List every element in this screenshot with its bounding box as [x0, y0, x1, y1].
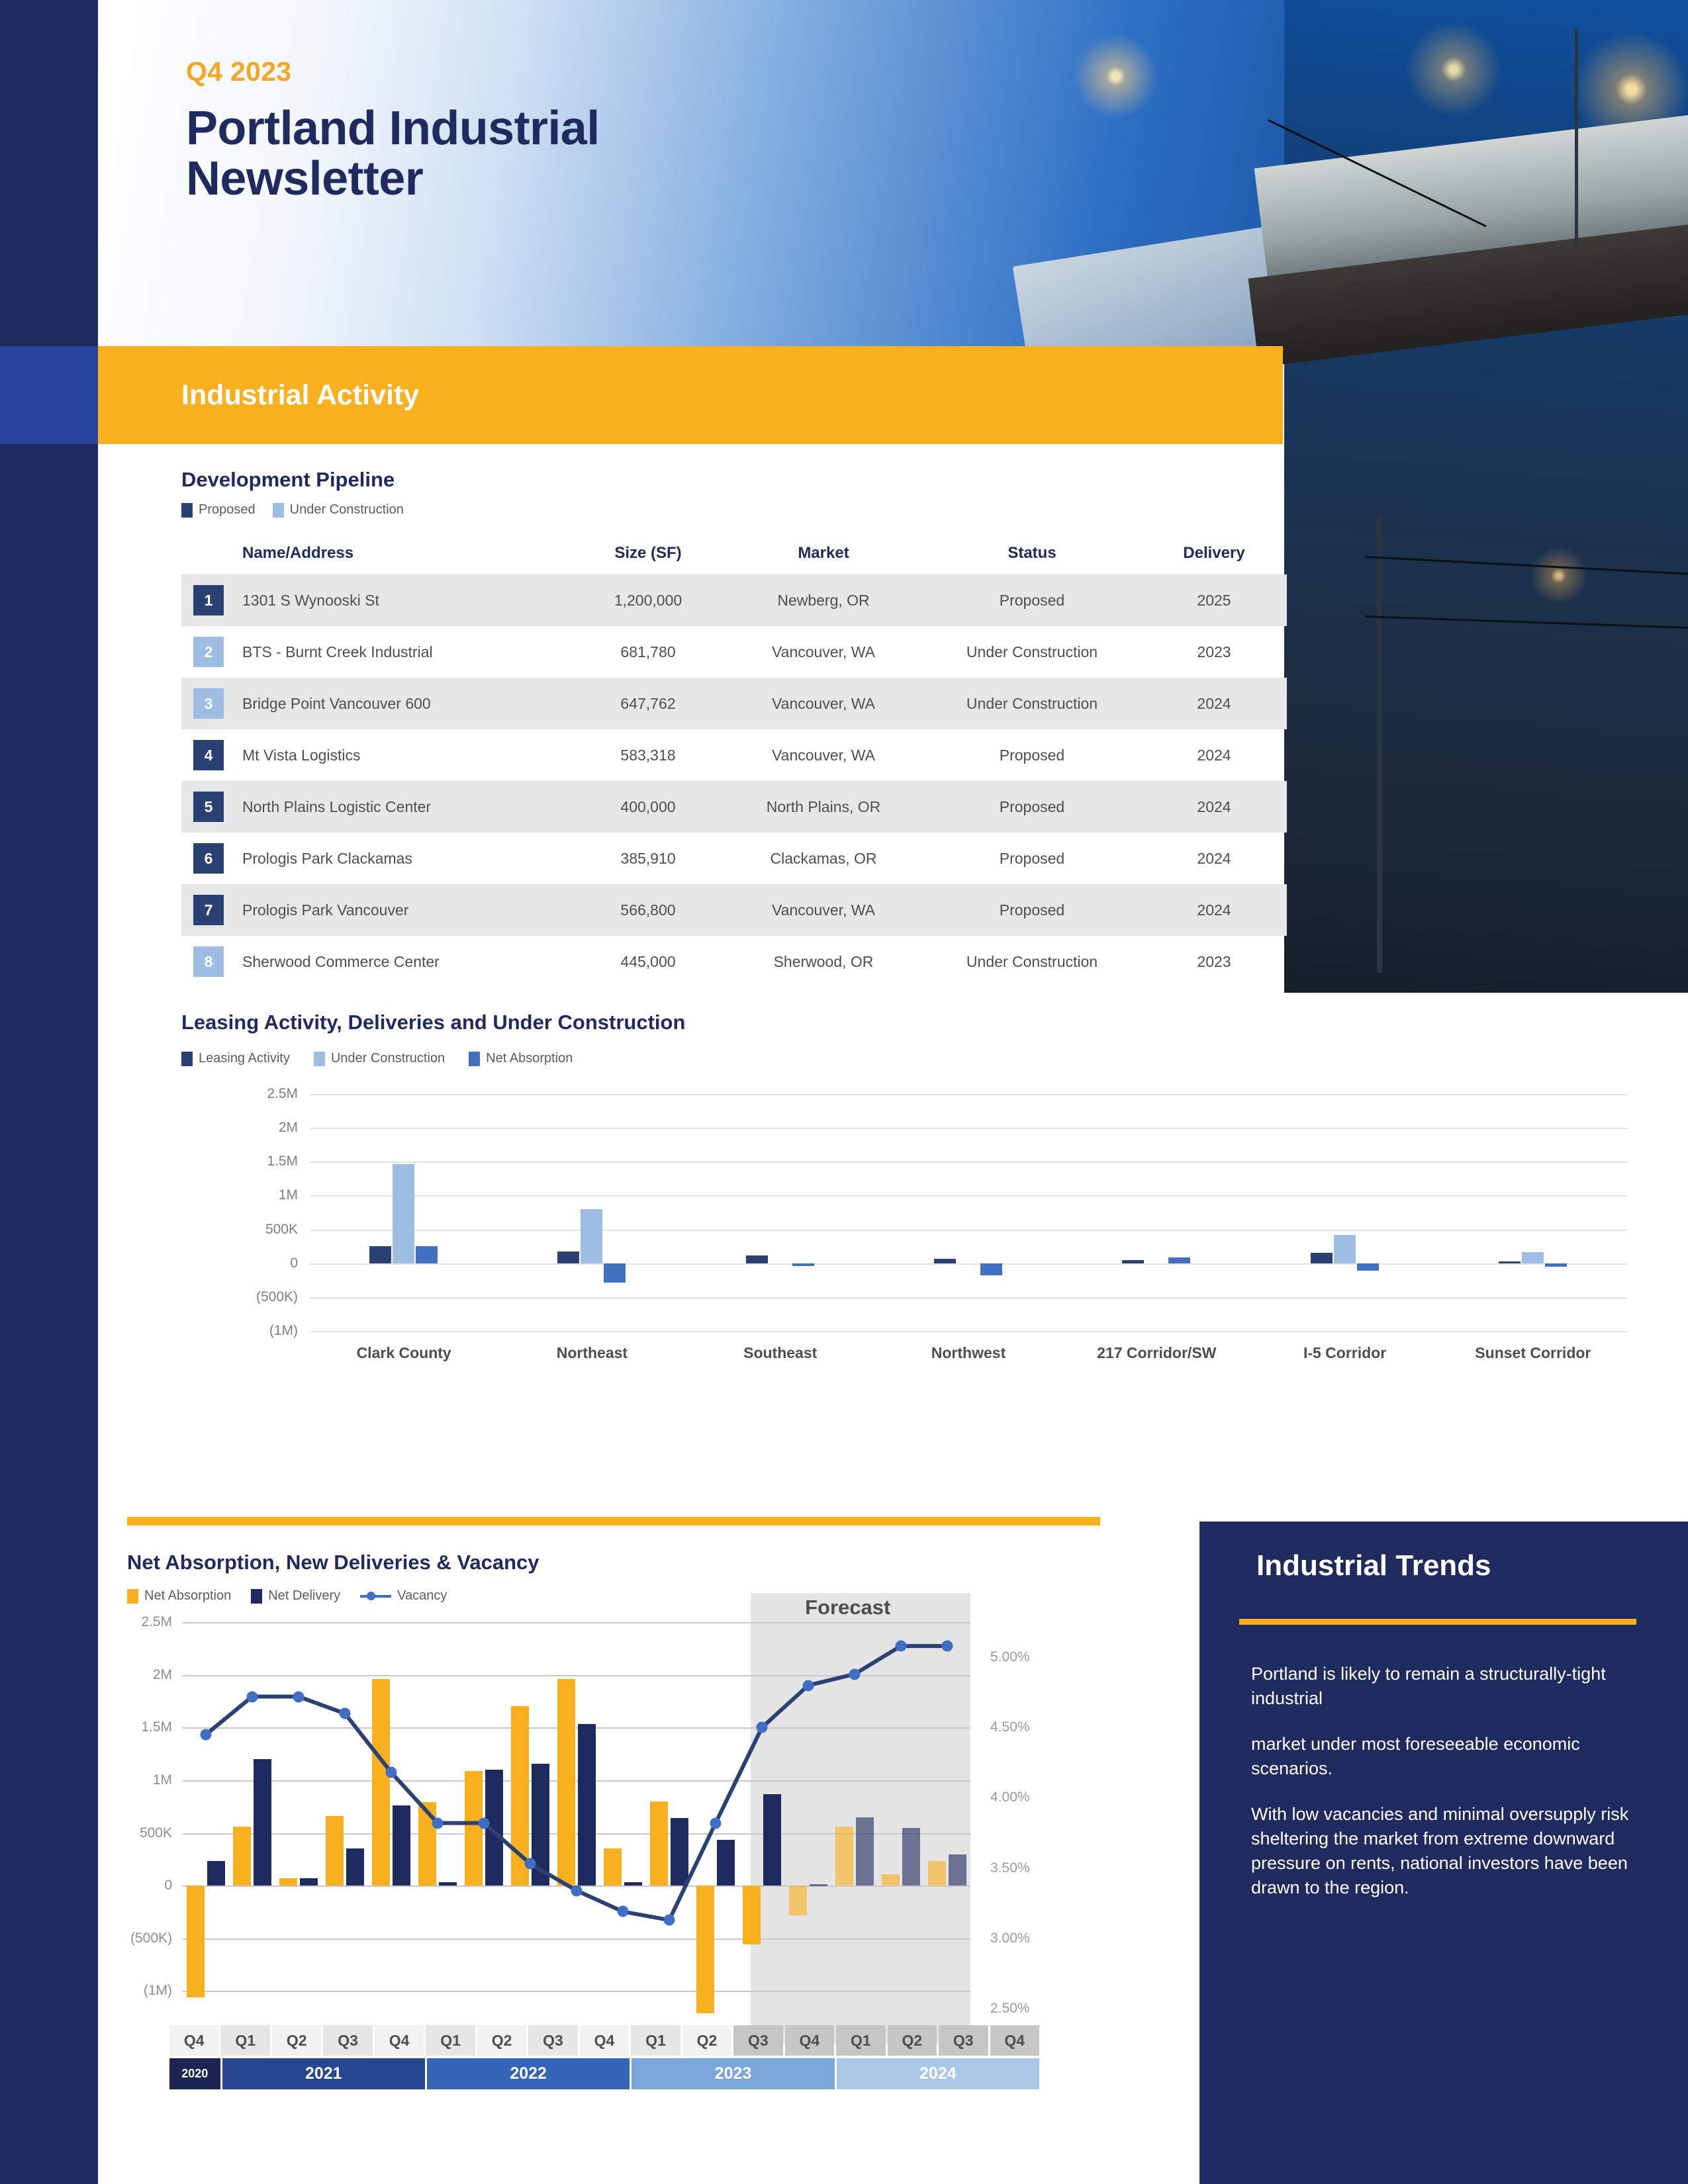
y-axis-tick: (500K)	[256, 1289, 298, 1305]
quarter-row: Q4Q1Q2Q3Q4Q1Q2Q3Q4Q1Q2Q3Q4Q1Q2Q3Q4	[169, 2025, 1039, 2056]
y-axis-right-tick: 4.50%	[990, 1719, 1030, 1735]
rank-badge: 8	[193, 946, 224, 977]
year-row: 20202021202220232024	[169, 2058, 1039, 2089]
y-axis-left-tick: 500K	[140, 1825, 172, 1841]
cell-name: Sherwood Commerce Center	[228, 936, 572, 987]
x-axis-label: Sunset Corridor	[1475, 1344, 1591, 1362]
y-axis-left-tick: 1.5M	[141, 1719, 172, 1735]
cell-market: Newberg, OR	[724, 574, 923, 626]
cell-name: BTS - Burnt Creek Industrial	[228, 626, 572, 678]
bar-under-construction	[1522, 1252, 1544, 1263]
cell-size: 445,000	[572, 936, 724, 987]
bar-leasing-activity	[934, 1259, 956, 1263]
vacancy-data-point	[803, 1680, 814, 1691]
y-axis-tick: 500K	[265, 1222, 298, 1238]
utility-pole-icon	[1377, 516, 1382, 973]
cell-market: Vancouver, WA	[724, 626, 923, 678]
vacancy-data-point	[201, 1729, 212, 1740]
quarter-label: Q4 2023	[186, 56, 600, 87]
vacancy-line	[183, 1622, 970, 2044]
year-cell: 2020	[169, 2058, 220, 2089]
cell-size: 647,762	[572, 678, 724, 729]
cell-name: Bridge Point Vancouver 600	[228, 678, 572, 729]
legend-swatch-icon	[127, 1589, 138, 1604]
rank-badge: 6	[193, 843, 224, 874]
cell-market: Sherwood, OR	[724, 936, 923, 987]
vacancy-data-point	[896, 1641, 907, 1652]
bar-under-construction	[581, 1209, 602, 1263]
quarter-cell: Q2	[272, 2025, 321, 2056]
accent-rule	[127, 1517, 1100, 1525]
bar-net-absorption	[1545, 1263, 1567, 1267]
y-axis-left-tick: 0	[164, 1878, 172, 1893]
legend-label: Net Absorption	[486, 1051, 573, 1066]
trends-accent-rule	[1239, 1619, 1636, 1625]
legend-item-net-absorption: Net Absorption	[469, 1051, 573, 1066]
gridline	[310, 1195, 1627, 1197]
year-cell: 2024	[837, 2058, 1039, 2089]
vacancy-data-point	[247, 1691, 258, 1702]
table-row: 1 1301 S Wynooski St 1,200,000 Newberg, …	[181, 574, 1287, 626]
quarter-cell: Q2	[477, 2025, 526, 2056]
x-axis-label: Northeast	[557, 1344, 628, 1362]
trends-body: Portland is likely to remain a structura…	[1251, 1662, 1642, 1921]
cell-status: Proposed	[923, 729, 1141, 781]
absorption-chart-legend: Net AbsorptionNet Delivery Vacancy	[127, 1588, 447, 1604]
legend-label: Leasing Activity	[199, 1051, 290, 1066]
legend-label: Vacancy	[397, 1588, 447, 1604]
rank-cell: 1	[181, 574, 228, 626]
cell-status: Under Construction	[923, 678, 1141, 729]
quarter-cell: Q2	[682, 2025, 731, 2056]
bar-under-construction	[393, 1164, 414, 1263]
quarter-cell: Q4	[169, 2025, 218, 2056]
x-axis-label: Clark County	[357, 1344, 451, 1362]
quarter-cell: Q1	[426, 2025, 475, 2056]
trends-paragraph: Portland is likely to remain a structura…	[1251, 1662, 1642, 1711]
bar-net-absorption	[416, 1246, 438, 1263]
light-pole-icon	[1575, 30, 1578, 248]
rank-badge: 3	[193, 688, 224, 719]
cell-size: 400,000	[572, 781, 724, 833]
legend-label: Net Delivery	[268, 1588, 340, 1604]
y-axis-right-tick: 3.50%	[990, 1860, 1030, 1876]
cell-name: Prologis Park Clackamas	[228, 833, 572, 884]
table-row: 6 Prologis Park Clackamas 385,910 Clacka…	[181, 833, 1287, 884]
power-wire	[1365, 615, 1688, 629]
cell-status: Proposed	[923, 833, 1141, 884]
quarter-cell: Q1	[631, 2025, 680, 2056]
y-axis-left-tick: (1M)	[144, 1983, 172, 1999]
cell-size: 566,800	[572, 884, 724, 936]
bar-leasing-activity	[557, 1251, 579, 1263]
bar-net-absorption	[1357, 1263, 1379, 1271]
quarter-cell: Q3	[939, 2025, 988, 2056]
quarter-cell: Q4	[990, 2025, 1039, 2056]
bar-leasing-activity	[369, 1246, 391, 1263]
x-axis-label: Southeast	[743, 1344, 817, 1362]
legend-label: Under Construction	[331, 1051, 445, 1066]
cell-status: Proposed	[923, 884, 1141, 936]
leasing-chart-legend: Leasing Activity Under Construction Net …	[181, 1051, 573, 1066]
col-delivery: Delivery	[1141, 536, 1287, 574]
bar-net-absorption	[604, 1263, 626, 1283]
col-size: Size (SF)	[572, 536, 724, 574]
legend-swatch-icon	[314, 1052, 325, 1066]
section-band-industrial-activity: Industrial Activity	[98, 346, 1283, 444]
vacancy-data-point	[525, 1858, 536, 1870]
legend-label: Proposed	[199, 502, 256, 518]
gridline	[310, 1263, 1627, 1265]
y-axis-left-tick: 2.5M	[141, 1614, 172, 1630]
cell-status: Proposed	[923, 781, 1141, 833]
legend-item-net-delivery: Net Delivery	[251, 1588, 340, 1604]
y-axis-left-tick: 1M	[153, 1772, 172, 1788]
gridline	[310, 1094, 1627, 1095]
vacancy-data-point	[571, 1885, 583, 1896]
legend-label: Net Absorption	[144, 1588, 231, 1604]
table-row: 5 North Plains Logistic Center 400,000 N…	[181, 781, 1287, 833]
year-cell: 2022	[427, 2058, 630, 2089]
legend-swatch-icon	[181, 1052, 193, 1066]
legend-item-under-construction: Under Construction	[314, 1051, 445, 1066]
absorption-chart-title: Net Absorption, New Deliveries & Vacancy	[127, 1551, 539, 1574]
rank-badge: 1	[193, 585, 224, 615]
leasing-activity-chart: Leasing Activity, Deliveries and Under C…	[98, 997, 1688, 1494]
legend-line-icon	[360, 1592, 391, 1600]
table-row: 7 Prologis Park Vancouver 566,800 Vancou…	[181, 884, 1287, 936]
bar-net-absorption	[1168, 1257, 1190, 1263]
industrial-trends-panel: Industrial Trends Portland is likely to …	[1199, 1522, 1688, 2184]
quarter-cell: Q3	[528, 2025, 577, 2056]
vacancy-data-point	[664, 1915, 675, 1926]
hero-title-group: Q4 2023 Portland Industrial Newsletter	[186, 56, 600, 205]
leasing-chart-title: Leasing Activity, Deliveries and Under C…	[181, 1011, 685, 1034]
rank-cell: 8	[181, 936, 228, 987]
trends-paragraph: With low vacancies and minimal oversuppl…	[1251, 1802, 1642, 1900]
cell-market: Vancouver, WA	[724, 884, 923, 936]
quarter-cell: Q4	[580, 2025, 629, 2056]
col-rank	[181, 536, 228, 574]
quarter-cell: Q1	[836, 2025, 885, 2056]
cell-delivery: 2024	[1141, 833, 1287, 884]
left-rail-accent-block	[0, 346, 98, 444]
y-axis-tick: 1M	[279, 1187, 298, 1203]
page-title-line1: Portland Industrial	[186, 102, 600, 155]
page-title: Portland Industrial Newsletter	[186, 103, 600, 205]
y-axis-right-tick: 3.00%	[990, 1931, 1030, 1946]
cell-delivery: 2023	[1141, 936, 1287, 987]
cell-name: Mt Vista Logistics	[228, 729, 572, 781]
gridline	[310, 1128, 1627, 1129]
y-axis-right-tick: 4.00%	[990, 1790, 1030, 1805]
quarter-cell: Q1	[220, 2025, 269, 2056]
rank-cell: 7	[181, 884, 228, 936]
trends-paragraph: market under most foreseeable economic s…	[1251, 1732, 1642, 1781]
x-axis-label: Northwest	[931, 1344, 1006, 1362]
development-pipeline-panel: Development Pipeline Proposed Under Cons…	[98, 444, 1283, 997]
bar-under-construction	[1334, 1235, 1356, 1263]
rank-badge: 2	[193, 637, 224, 667]
legend-swatch-icon	[469, 1052, 480, 1066]
bar-net-absorption	[792, 1263, 814, 1266]
rank-badge: 4	[193, 740, 224, 770]
legend-swatch-icon	[181, 503, 193, 518]
legend-item-net-absorption: Net Absorption	[127, 1588, 231, 1604]
cell-size: 385,910	[572, 833, 724, 884]
vacancy-data-point	[432, 1817, 444, 1829]
rank-cell: 5	[181, 781, 228, 833]
legend-item-leasing-activity: Leasing Activity	[181, 1051, 290, 1066]
y-axis-tick: 0	[290, 1255, 298, 1271]
table-row: 8 Sherwood Commerce Center 445,000 Sherw…	[181, 936, 1287, 987]
quarter-cell: Q4	[375, 2025, 424, 2056]
legend-swatch-icon	[251, 1589, 262, 1604]
vacancy-data-point	[293, 1691, 305, 1702]
bar-leasing-activity	[1311, 1253, 1333, 1263]
rank-cell: 4	[181, 729, 228, 781]
bar-leasing-activity	[746, 1255, 768, 1263]
y-axis-tick: 2M	[279, 1120, 298, 1136]
quarter-cell: Q3	[323, 2025, 372, 2056]
rank-badge: 7	[193, 895, 224, 925]
y-axis-tick: 2.5M	[267, 1086, 298, 1102]
x-axis-label: I-5 Corridor	[1303, 1344, 1386, 1362]
cell-delivery: 2025	[1141, 574, 1287, 626]
cell-size: 1,200,000	[572, 574, 724, 626]
legend-swatch-icon	[273, 503, 284, 518]
legend-item-vacancy: Vacancy	[360, 1588, 447, 1604]
rank-cell: 3	[181, 678, 228, 729]
bar-leasing-activity	[1499, 1261, 1521, 1263]
vacancy-data-point	[340, 1708, 351, 1719]
rank-cell: 2	[181, 626, 228, 678]
cell-status: Proposed	[923, 574, 1141, 626]
vacancy-data-point	[618, 1906, 629, 1917]
vacancy-data-point	[849, 1668, 861, 1680]
legend-label: Under Construction	[290, 502, 404, 518]
bar-leasing-activity	[1122, 1260, 1144, 1263]
year-cell: 2023	[632, 2058, 834, 2089]
y-axis-tick: (1M)	[269, 1323, 298, 1339]
year-cell: 2021	[222, 2058, 425, 2089]
x-axis-label: 217 Corridor/SW	[1097, 1344, 1216, 1362]
col-status: Status	[923, 536, 1141, 574]
cell-size: 681,780	[572, 626, 724, 678]
cell-delivery: 2023	[1141, 626, 1287, 678]
bridge-photo	[1284, 0, 1688, 993]
col-name: Name/Address	[228, 536, 572, 574]
rank-cell: 6	[181, 833, 228, 884]
vacancy-data-point	[710, 1817, 722, 1829]
section-title: Industrial Activity	[181, 379, 419, 412]
gridline	[310, 1161, 1627, 1163]
legend-item-proposed: Proposed	[181, 502, 256, 518]
forecast-label: Forecast	[805, 1596, 890, 1619]
page-title-line2: Newsletter	[186, 152, 423, 205]
cell-market: Vancouver, WA	[724, 729, 923, 781]
col-market: Market	[724, 536, 923, 574]
table-row: 2 BTS - Burnt Creek Industrial 681,780 V…	[181, 626, 1287, 678]
quarter-cell: Q3	[733, 2025, 782, 2056]
cell-delivery: 2024	[1141, 781, 1287, 833]
gridline	[310, 1230, 1627, 1231]
leasing-chart-plot: 2.5M2M1.5M1M500K0(500K)(1M)Clark CountyN…	[310, 1094, 1627, 1331]
left-rail	[0, 0, 98, 2184]
cell-status: Under Construction	[923, 936, 1141, 987]
vacancy-data-point	[386, 1767, 397, 1778]
bar-net-absorption	[980, 1263, 1002, 1275]
absorption-chart-plot: Forecast 2.5M2M1.5M1M500K0(500K)(1M)5.00…	[183, 1622, 970, 2044]
cell-name: 1301 S Wynooski St	[228, 574, 572, 626]
y-axis-right-tick: 5.00%	[990, 1649, 1030, 1665]
cell-status: Under Construction	[923, 626, 1141, 678]
y-axis-tick: 1.5M	[267, 1154, 298, 1169]
y-axis-left-tick: 2M	[153, 1667, 172, 1683]
y-axis-right-tick: 2.50%	[990, 2001, 1030, 2017]
development-pipeline-table: Name/Address Size (SF) Market Status Del…	[181, 536, 1287, 987]
vacancy-data-point	[757, 1722, 768, 1733]
quarter-year-axis: Q4Q1Q2Q3Q4Q1Q2Q3Q4Q1Q2Q3Q4Q1Q2Q3Q4 20202…	[169, 2025, 1039, 2089]
gridline	[310, 1297, 1627, 1298]
cell-delivery: 2024	[1141, 729, 1287, 781]
gridline	[310, 1331, 1627, 1332]
trends-heading: Industrial Trends	[1256, 1549, 1491, 1582]
cell-delivery: 2024	[1141, 884, 1287, 936]
power-wire	[1365, 556, 1688, 576]
table-row: 3 Bridge Point Vancouver 600 647,762 Van…	[181, 678, 1287, 729]
cell-market: Clackamas, OR	[724, 833, 923, 884]
vacancy-data-point	[479, 1817, 490, 1829]
cell-market: Vancouver, WA	[724, 678, 923, 729]
y-axis-left-tick: (500K)	[130, 1931, 172, 1946]
vacancy-data-point	[942, 1641, 953, 1652]
quarter-cell: Q4	[785, 2025, 834, 2056]
cell-market: North Plains, OR	[724, 781, 923, 833]
rank-badge: 5	[193, 792, 224, 822]
legend-item-under-construction: Under Construction	[273, 502, 404, 518]
cell-size: 583,318	[572, 729, 724, 781]
quarter-cell: Q2	[888, 2025, 937, 2056]
pipeline-title: Development Pipeline	[181, 468, 395, 492]
cell-delivery: 2024	[1141, 678, 1287, 729]
cell-name: Prologis Park Vancouver	[228, 884, 572, 936]
cell-name: North Plains Logistic Center	[228, 781, 572, 833]
table-header-row: Name/Address Size (SF) Market Status Del…	[181, 536, 1287, 574]
pipeline-legend: Proposed Under Construction	[181, 502, 404, 518]
table-row: 4 Mt Vista Logistics 583,318 Vancouver, …	[181, 729, 1287, 781]
